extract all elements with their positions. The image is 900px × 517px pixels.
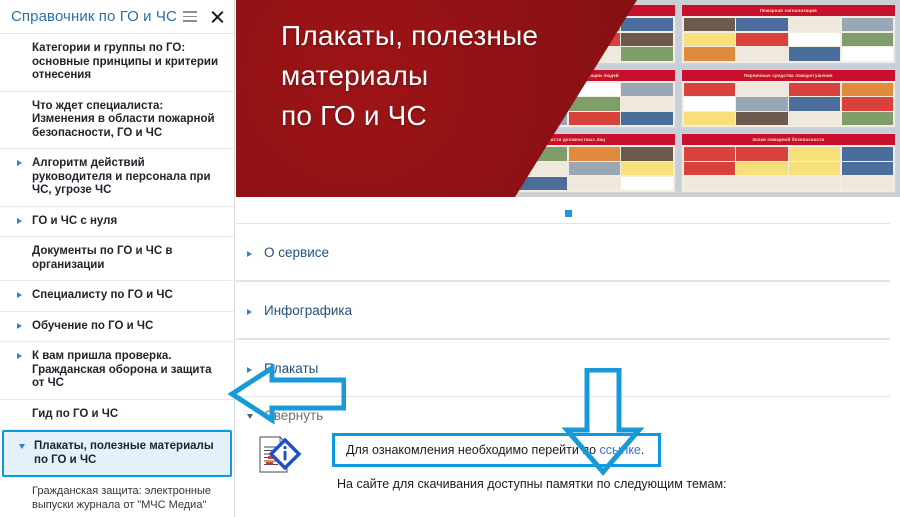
poster-thumbnail: Знаки пожарной безопасности <box>681 133 896 193</box>
chevron-right-icon <box>17 218 22 224</box>
close-icon[interactable] <box>210 9 225 24</box>
sidebar-item-label: К вам пришла проверка. Гражданская оборо… <box>32 350 212 389</box>
poster-body <box>684 18 893 61</box>
poster-body <box>684 83 893 126</box>
sidebar-item-documents[interactable]: Документы по ГО и ЧС в организации <box>0 237 234 281</box>
banner-title-line-1: Плакаты, полезные <box>281 16 621 56</box>
carousel-indicator[interactable] <box>236 208 900 218</box>
chevron-right-icon <box>17 353 22 359</box>
banner-title-line-3: по ГО и ЧС <box>281 96 621 136</box>
banner-title: Плакаты, полезные материалы по ГО и ЧС <box>281 16 621 136</box>
note-text-after: . <box>641 443 644 457</box>
poster-heading: Пожарная сигнализация <box>682 5 895 16</box>
chevron-down-icon <box>247 414 253 422</box>
poster-heading: Первичные средства пожаротушения <box>682 70 895 81</box>
sidebar-item-inspection[interactable]: К вам пришла проверка. Гражданская оборо… <box>0 342 234 400</box>
note-highlight-box: Для ознакомления необходимо перейти по с… <box>332 433 661 467</box>
sidebar-item-from-scratch[interactable]: ГО и ЧС с нуля <box>0 207 234 238</box>
sidebar-item-specialist[interactable]: Специалисту по ГО и ЧС <box>0 281 234 312</box>
sidebar-subitem-label: Гражданская защита: электронные выпуски … <box>32 485 211 511</box>
sidebar-item-categories[interactable]: Категории и группы по ГО: основные принц… <box>0 34 234 92</box>
sidebar: Справочник по ГО и ЧС Категории и группы… <box>0 0 235 517</box>
note-text-before: Для ознакомления необходимо перейти по <box>346 443 600 457</box>
poster-thumbnail: Первичные средства пожаротушения <box>681 69 896 129</box>
sidebar-item-posters[interactable]: Плакаты, полезные материалы по ГО и ЧС <box>2 430 232 477</box>
sidebar-item-training[interactable]: Обучение по ГО и ЧС <box>0 312 234 343</box>
sidebar-menu-list: Категории и группы по ГО: основные принц… <box>0 34 234 517</box>
chevron-right-icon <box>247 251 252 257</box>
sidebar-item-label: Алгоритм действий руководителя и персона… <box>32 157 211 196</box>
sidebar-item-label: Что ждет специалиста: Изменения в област… <box>32 100 215 139</box>
sidebar-item-algorithm[interactable]: Алгоритм действий руководителя и персона… <box>0 149 234 207</box>
poster-heading: Знаки пожарной безопасности <box>682 134 895 145</box>
sidebar-item-label: Документы по ГО и ЧС в организации <box>32 245 172 271</box>
banner-title-line-2: материалы <box>281 56 621 96</box>
hamburger-icon[interactable] <box>183 11 197 22</box>
accordion-list: О сервисе Инфографика Плакаты Свернуть <box>236 223 890 423</box>
chevron-right-icon <box>17 323 22 329</box>
chevron-right-icon <box>247 309 252 315</box>
hero-banner[interactable]: Пожарная безопасность Действия при пожар… <box>236 0 900 197</box>
collapse-toggle-button[interactable]: Свернуть <box>236 408 323 423</box>
accordion-label: Инфографика <box>236 303 352 318</box>
sidebar-item-label: Плакаты, полезные материалы по ГО и ЧС <box>34 440 214 466</box>
poster-body <box>684 147 893 190</box>
accordion-item-infographics[interactable]: Инфографика <box>236 281 890 339</box>
sidebar-item-label: Категории и группы по ГО: основные принц… <box>32 42 218 81</box>
main-content: О сервисе Инфографика Плакаты Свернуть <box>236 197 900 517</box>
chevron-right-icon <box>247 367 252 373</box>
sidebar-header: Справочник по ГО и ЧС <box>0 0 234 34</box>
sidebar-item-label: ГО и ЧС с нуля <box>32 215 117 227</box>
note-link[interactable]: ссылке <box>600 443 641 457</box>
poster-thumbnail: Пожарная сигнализация <box>681 4 896 64</box>
collapse-row: Свернуть <box>236 408 890 423</box>
sidebar-title: Справочник по ГО и ЧС <box>0 8 177 25</box>
carousel-dot-active[interactable] <box>565 210 572 217</box>
accordion-item-posters[interactable]: Плакаты <box>236 339 890 397</box>
chevron-right-icon <box>17 160 22 166</box>
accordion-item-about-service[interactable]: О сервисе <box>236 223 890 281</box>
sidebar-item-label: Обучение по ГО и ЧС <box>32 320 153 332</box>
sidebar-item-label: Специалисту по ГО и ЧС <box>32 289 173 301</box>
chevron-down-icon <box>19 444 25 449</box>
chevron-right-icon <box>17 292 22 298</box>
sidebar-item-guide[interactable]: Гид по ГО и ЧС <box>0 400 234 431</box>
sidebar-subitem-civil-defense-journal[interactable]: Гражданская защита: электронные выпуски … <box>0 477 234 517</box>
note-subtext: На сайте для скачивания доступны памятки… <box>337 477 727 491</box>
sidebar-item-changes[interactable]: Что ждет специалиста: Изменения в област… <box>0 92 234 150</box>
sidebar-item-label: Гид по ГО и ЧС <box>32 408 118 420</box>
page-root: Справочник по ГО и ЧС Категории и группы… <box>0 0 900 517</box>
document-info-icon <box>256 435 302 477</box>
sidebar-header-actions <box>183 0 225 33</box>
collapse-label: Свернуть <box>264 408 323 423</box>
